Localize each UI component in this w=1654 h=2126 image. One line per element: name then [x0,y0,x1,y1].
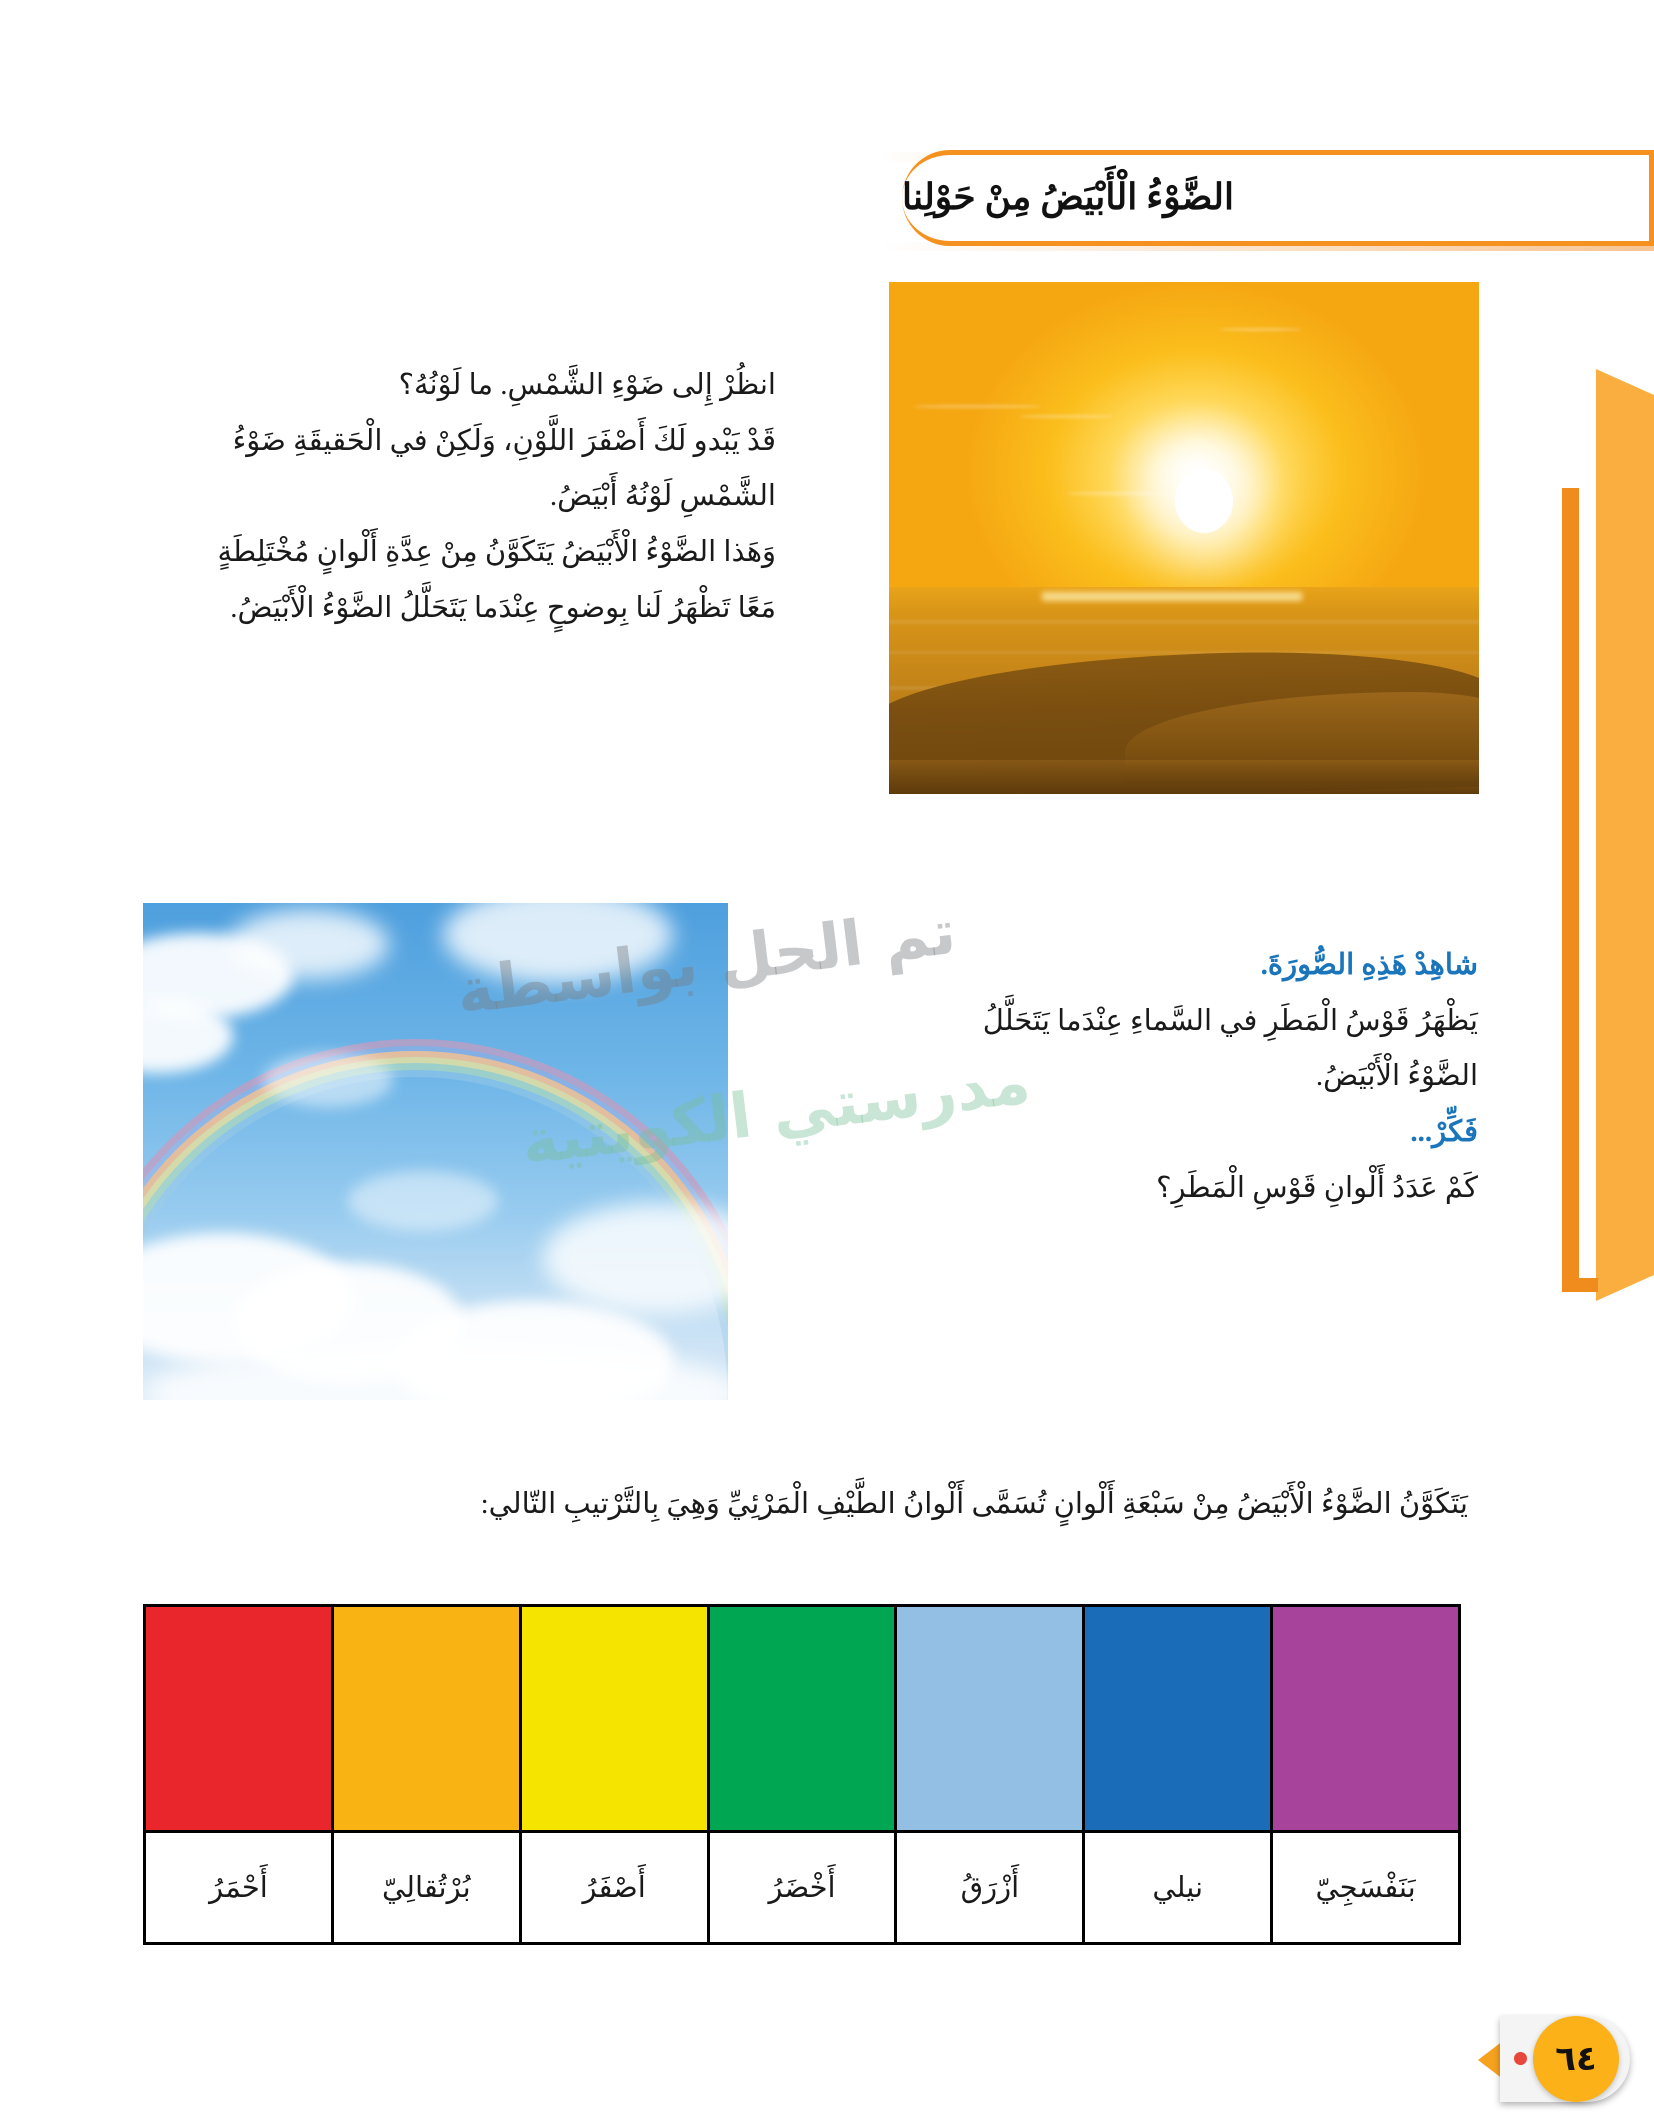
sun-reflection [1042,592,1302,601]
cloud-wisp-icon [1066,492,1172,495]
rainbow-paragraph: شاهِدْ هَذِهِ الصُّورَةَ. يَظْهَرُ قَوْس… [858,938,1478,1216]
wave-foam [889,760,1479,794]
badge-circle: ٦٤ [1533,2016,1619,2102]
spectrum-label: أَحْمَرُ [145,1832,333,1944]
spectrum-label: نيلي [1084,1832,1272,1944]
intro-line-3: الشَّمْسِ لَوْنُهُ أَبْيَضُ. [86,469,776,525]
sunset-photo [889,282,1479,794]
spectrum-swatch [896,1606,1084,1832]
intro-paragraph: انظُرْ إِلى ضَوْءِ الشَّمْسِ. ما لَوْنُه… [86,358,776,636]
rainbow-photo [143,903,728,1400]
spectrum-label: أَخْضَرُ [708,1832,896,1944]
textbook-page: الضَّوْءُ الْأَبْيَضُ مِنْ حَوْلِنا انظُ… [0,0,1654,2126]
cloud-icon [229,909,389,979]
spectrum-swatch [332,1606,520,1832]
edge-tab-inner [1562,488,1579,1278]
page-number-badge: ٦٤ [1478,2002,1654,2114]
spectrum-intro-text: يَتَكَوَّنُ الضَّوْءُ الْأَبْيَضُ مِنْ س… [178,1480,1468,1529]
rainbow-line-2: الضَّوْءُ الْأَبْيَضُ. [858,1049,1478,1105]
spectrum-label-row: بَنَفْسَجِيّ نيلي أَزْرَقُ أَخْضَرُ أَصْ… [145,1832,1460,1944]
intro-line-2: قَدْ يَبْدو لَكَ أَصْفَرَ اللَّوْنِ، وَل… [86,414,776,470]
spectrum-swatch [1272,1606,1460,1832]
intro-line-4: وَهَذا الضَّوْءُ الْأَبْيَضُ يَتَكَوَّنُ… [86,525,776,581]
page-title-pill: الضَّوْءُ الْأَبْيَضُ مِنْ حَوْلِنا [902,150,1654,246]
spectrum-label: بُرْتُقالِيّ [332,1832,520,1944]
rainbow-question: كَمْ عَدَدُ أَلْوانِ قَوْسِ الْمَطَرِ؟ [858,1161,1478,1217]
sea-band [889,651,1479,654]
badge-dot-icon [1514,2052,1527,2065]
cloud-icon [263,1053,393,1107]
sunset-sky [889,282,1479,589]
spectrum-label: أَصْفَرُ [520,1832,708,1944]
cloud-wisp-icon [913,405,1043,408]
spectrum-table: بَنَفْسَجِيّ نيلي أَزْرَقُ أَخْضَرُ أَصْ… [143,1604,1461,1945]
spectrum-swatch-row [145,1606,1460,1832]
intro-line-5: مَعًا تَظْهَرُ لَنا بِوضوحٍ عِنْدَما يَت… [86,581,776,637]
sea-band [889,620,1479,624]
edge-tab-outer [1596,395,1654,1275]
spectrum-swatch [1084,1606,1272,1832]
page-title: الضَّوْءُ الْأَبْيَضُ مِنْ حَوْلِنا [902,178,1234,218]
rainbow-line-1: يَظْهَرُ قَوْسُ الْمَطَرِ في السَّماءِ ع… [858,994,1478,1050]
think-prompt: فَكِّرْ... [858,1105,1478,1161]
spectrum-swatch [145,1606,333,1832]
rainbow-lead: شاهِدْ هَذِهِ الصُّورَةَ. [858,938,1478,994]
spectrum-label: أَزْرَقُ [896,1832,1084,1944]
spectrum-swatch [520,1606,708,1832]
spectrum-label: بَنَفْسَجِيّ [1272,1832,1460,1944]
page-number: ٦٤ [1555,2039,1597,2079]
sun-icon [1175,469,1233,533]
intro-line-1: انظُرْ إِلى ضَوْءِ الشَّمْسِ. ما لَوْنُه… [86,358,776,414]
cloud-icon [348,1171,498,1231]
spectrum-swatch [708,1606,896,1832]
